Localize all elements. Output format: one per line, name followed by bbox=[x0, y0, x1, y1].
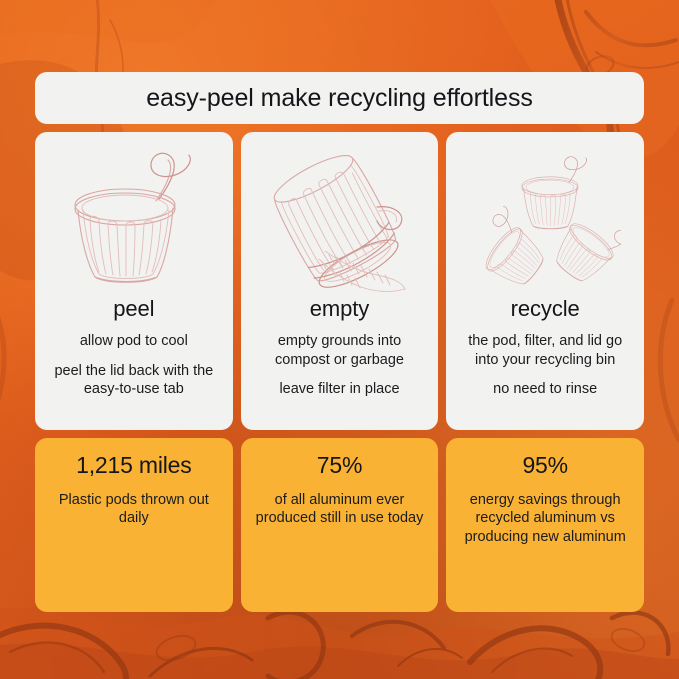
infographic-stage: easy-peel make recycling effortless bbox=[0, 0, 679, 679]
step-lines: the pod, filter, and lid go into your re… bbox=[456, 332, 634, 399]
coffee-pod-peel-icon bbox=[45, 142, 223, 294]
stat-description: Plastic pods thrown out daily bbox=[47, 491, 221, 528]
header-card: easy-peel make recycling effortless bbox=[35, 72, 644, 124]
stat-value: 75% bbox=[317, 452, 362, 479]
step-line: peel the lid back with the easy-to-use t… bbox=[45, 362, 223, 399]
step-line: no need to rinse bbox=[493, 380, 597, 399]
stat-description: energy savings through recycled aluminum… bbox=[458, 491, 632, 546]
page-title: easy-peel make recycling effortless bbox=[146, 84, 533, 113]
step-card-peel: peel allow pod to cool peel the lid back… bbox=[35, 132, 233, 430]
stats-row: 1,215 miles Plastic pods thrown out dail… bbox=[35, 438, 644, 612]
stat-card-energy-savings: 95% energy savings through recycled alum… bbox=[446, 438, 644, 612]
step-title: recycle bbox=[511, 296, 580, 322]
stat-card-aluminum-in-use: 75% of all aluminum ever produced still … bbox=[241, 438, 439, 612]
step-lines: allow pod to cool peel the lid back with… bbox=[45, 332, 223, 399]
three-coffee-pods-recycle-icon bbox=[456, 142, 634, 294]
infographic-content: easy-peel make recycling effortless bbox=[35, 72, 644, 612]
step-lines: empty grounds into compost or garbage le… bbox=[251, 332, 429, 399]
stat-card-plastic-pods: 1,215 miles Plastic pods thrown out dail… bbox=[35, 438, 233, 612]
stat-value: 95% bbox=[522, 452, 567, 479]
step-line: empty grounds into compost or garbage bbox=[251, 332, 429, 369]
steps-row: peel allow pod to cool peel the lid back… bbox=[35, 132, 644, 430]
step-title: peel bbox=[113, 296, 154, 322]
step-line: leave filter in place bbox=[279, 380, 399, 399]
stat-value: 1,215 miles bbox=[76, 452, 191, 479]
coffee-pod-empty-grounds-icon bbox=[251, 142, 429, 294]
step-card-empty: empty empty grounds into compost or garb… bbox=[241, 132, 439, 430]
step-line: the pod, filter, and lid go into your re… bbox=[456, 332, 634, 369]
stat-description: of all aluminum ever produced still in u… bbox=[253, 491, 427, 528]
step-line: allow pod to cool bbox=[80, 332, 188, 351]
step-card-recycle: recycle the pod, filter, and lid go into… bbox=[446, 132, 644, 430]
step-title: empty bbox=[310, 296, 369, 322]
